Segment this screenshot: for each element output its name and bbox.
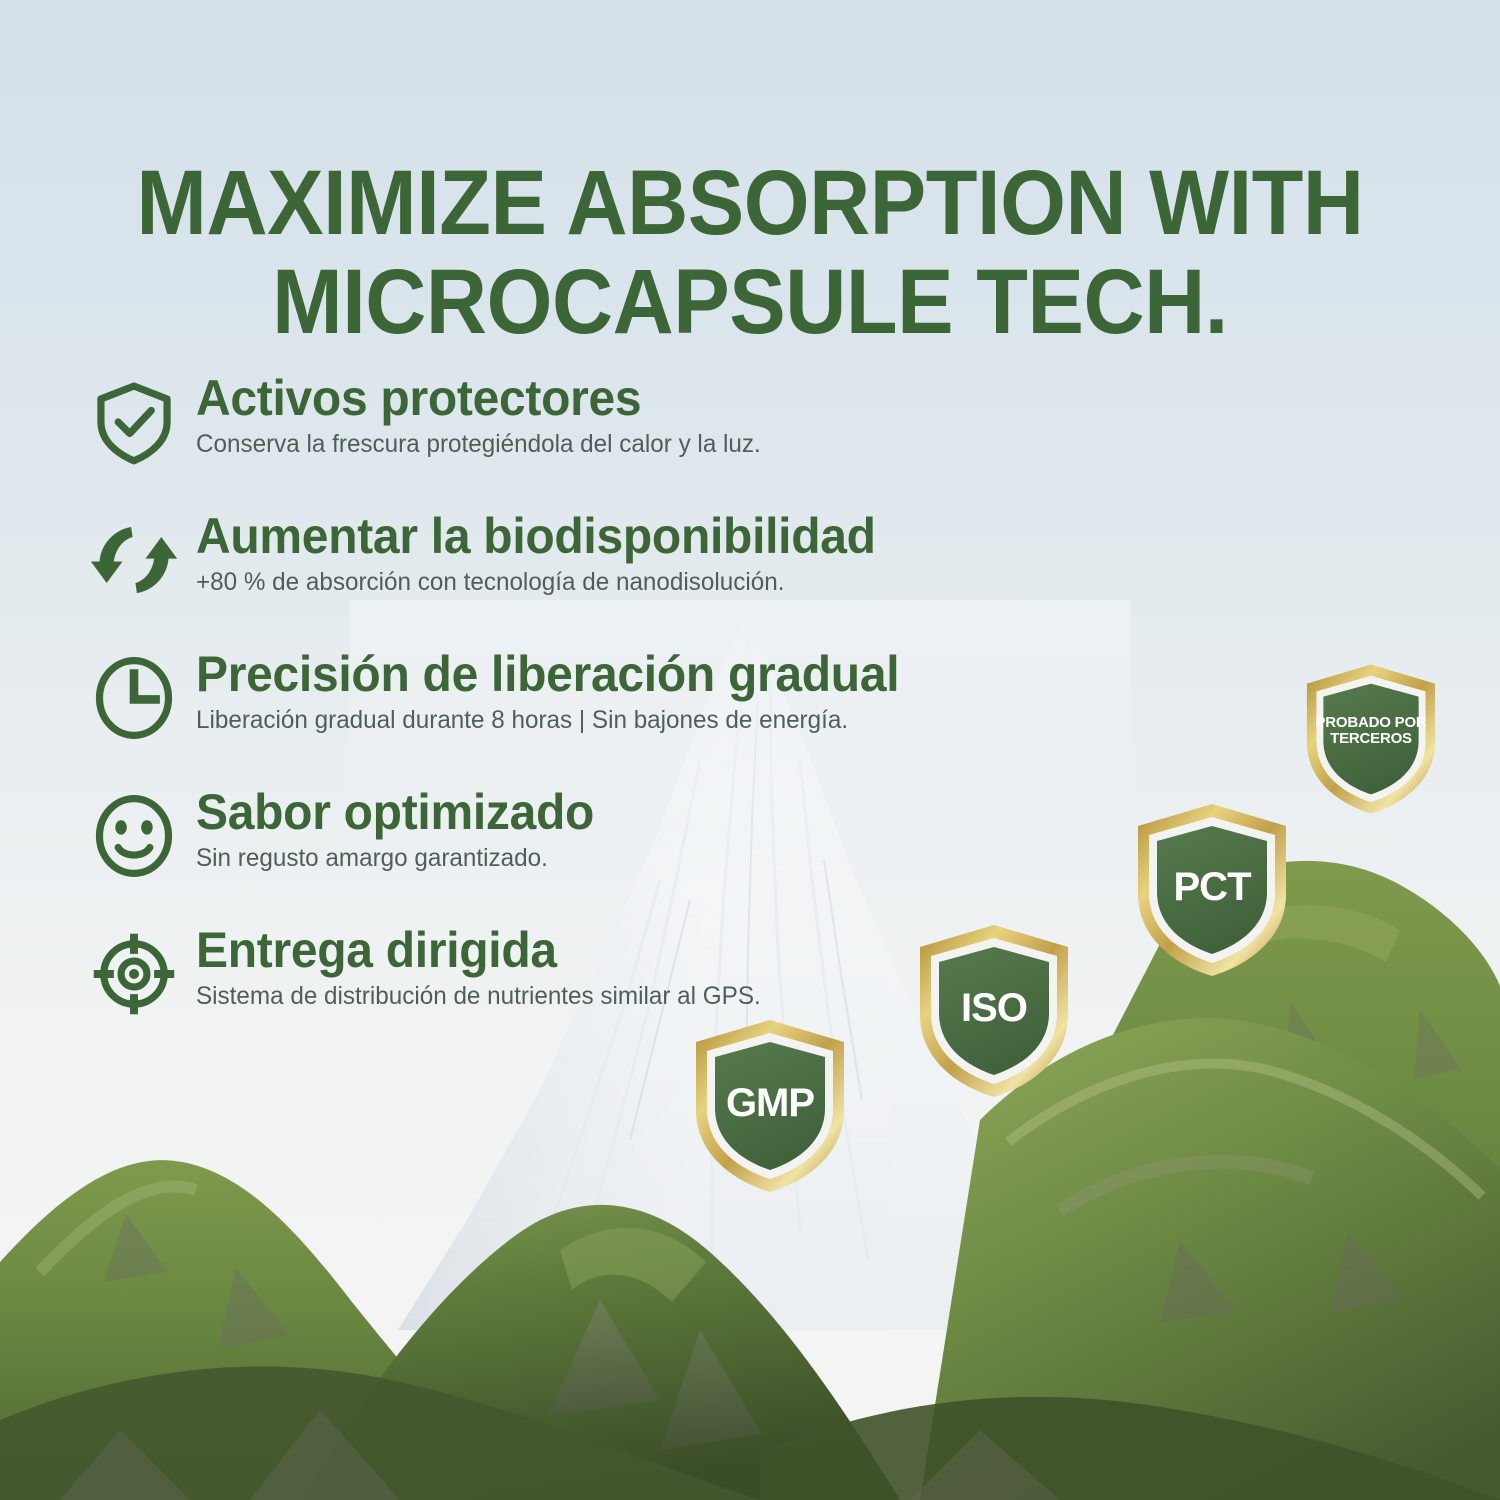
feature-text: Precisión de liberación gradual Liberaci… bbox=[88, 648, 1108, 735]
feature-text: Aumentar la biodisponibilidad +80 % de a… bbox=[88, 510, 1108, 597]
feature-subtitle: Sin regusto amargo garantizado. bbox=[196, 843, 1081, 873]
smiley-icon bbox=[88, 790, 180, 882]
feature-text: Sabor optimizado Sin regusto amargo gara… bbox=[88, 786, 1108, 873]
infographic-canvas: MAXIMIZE ABSORPTION WITH MICROCAPSULE TE… bbox=[0, 0, 1500, 1500]
feature-title: Aumentar la biodisponibilidad bbox=[196, 510, 1072, 563]
feature-text: Activos protectores Conserva la frescura… bbox=[88, 372, 1108, 459]
sync-arrows-icon bbox=[88, 514, 180, 606]
crosshair-target-icon bbox=[88, 928, 180, 1020]
badge-pct: PCT bbox=[1130, 800, 1294, 980]
feature-subtitle: +80 % de absorción con tecnología de nan… bbox=[196, 567, 1081, 597]
feature-item: Precisión de liberación gradual Liberaci… bbox=[88, 648, 1108, 778]
clock-icon bbox=[88, 652, 180, 744]
feature-subtitle: Conserva la frescura protegiéndola del c… bbox=[196, 429, 1081, 459]
title-line-1: MAXIMIZE ABSORPTION WITH bbox=[136, 152, 1363, 254]
page-title: MAXIMIZE ABSORPTION WITH MICROCAPSULE TE… bbox=[60, 154, 1440, 353]
badge-gmp: GMP bbox=[688, 1016, 852, 1196]
feature-subtitle: Liberación gradual durante 8 horas | Sin… bbox=[196, 705, 1081, 735]
title-line-2: MICROCAPSULE TECH. bbox=[60, 253, 1440, 352]
feature-title: Precisión de liberación gradual bbox=[196, 648, 1072, 701]
feature-item: Activos protectores Conserva la frescura… bbox=[88, 372, 1108, 502]
badge-iso: ISO bbox=[912, 921, 1076, 1101]
feature-item: Aumentar la biodisponibilidad +80 % de a… bbox=[88, 510, 1108, 640]
badge-third-party-tested: PROBADO POR TERCEROS bbox=[1300, 661, 1442, 817]
feature-item: Sabor optimizado Sin regusto amargo gara… bbox=[88, 786, 1108, 916]
feature-title: Activos protectores bbox=[196, 372, 1072, 425]
feature-title: Sabor optimizado bbox=[196, 786, 1072, 839]
shield-check-icon bbox=[88, 376, 180, 468]
